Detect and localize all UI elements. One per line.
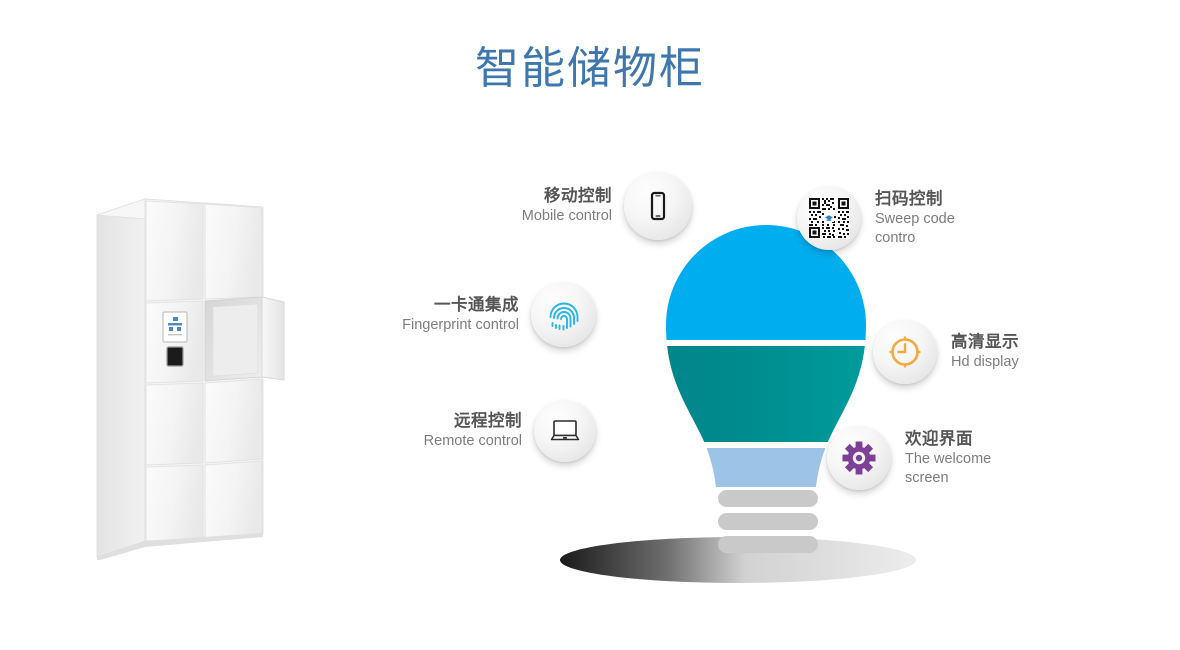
feature-label-en: Mobile control <box>522 207 612 226</box>
feature-label-cn: 欢迎界面 <box>905 429 1025 450</box>
bulb-base-ring <box>718 513 818 530</box>
feature-icon-badge[interactable] <box>873 320 937 384</box>
locker-open-door[interactable] <box>262 297 284 380</box>
infographic-canvas: 智能储物柜 <box>0 0 1180 650</box>
locker-door[interactable] <box>146 201 203 301</box>
locker-door[interactable] <box>205 461 262 539</box>
feature-sweep-code-control[interactable]: 扫码控制 Sweep code contro <box>797 186 1007 250</box>
feature-mobile-control[interactable]: 移动控制 Mobile control <box>430 172 692 240</box>
feature-label-en: Hd display <box>951 353 1019 372</box>
mobile-phone-icon <box>642 190 674 222</box>
qr-code-icon <box>808 197 850 239</box>
locker-touchscreen[interactable] <box>163 312 187 342</box>
feature-hd-display[interactable]: 高清显示 Hd display <box>873 320 1063 384</box>
bulb-base-ring <box>718 490 818 507</box>
locker-door[interactable] <box>146 465 203 541</box>
cabinet-side-panel <box>97 199 145 557</box>
feature-label-en: Remote control <box>424 432 522 451</box>
page-title: 智能储物柜 <box>0 32 1180 96</box>
locker-card-reader[interactable] <box>167 347 183 366</box>
locker-door[interactable] <box>146 383 203 465</box>
lightbulb-graphic <box>560 225 960 585</box>
feature-label-en: Fingerprint control <box>402 316 519 335</box>
feature-text: 一卡通集成 Fingerprint control <box>402 295 519 335</box>
feature-fingerprint-control[interactable]: 一卡通集成 Fingerprint control <box>398 282 596 347</box>
feature-text: 远程控制 Remote control <box>424 411 522 451</box>
feature-icon-badge[interactable] <box>827 426 891 490</box>
gear-icon <box>841 440 877 476</box>
bulb-base-ring <box>718 536 818 553</box>
feature-icon-badge[interactable] <box>534 400 596 462</box>
feature-label-cn: 移动控制 <box>522 186 612 207</box>
feature-text: 高清显示 Hd display <box>951 332 1019 372</box>
feature-label-en: The welcome screen <box>905 450 1025 487</box>
feature-label-cn: 远程控制 <box>424 411 522 432</box>
feature-label-cn: 高清显示 <box>951 332 1019 353</box>
locker-door[interactable] <box>205 204 262 299</box>
locker-door[interactable] <box>205 379 262 463</box>
locker-cavity-back <box>213 304 258 376</box>
fingerprint-icon <box>546 297 582 333</box>
clock-icon <box>887 334 923 370</box>
feature-welcome-screen[interactable]: 欢迎界面 The welcome screen <box>827 426 1027 490</box>
feature-icon-badge[interactable] <box>797 186 861 250</box>
feature-icon-badge[interactable] <box>531 282 596 347</box>
feature-label-cn: 一卡通集成 <box>402 295 519 316</box>
feature-text: 扫码控制 Sweep code contro <box>875 189 995 247</box>
feature-icon-badge[interactable] <box>624 172 692 240</box>
feature-label-cn: 扫码控制 <box>875 189 995 210</box>
feature-text: 欢迎界面 The welcome screen <box>905 429 1025 487</box>
laptop-icon <box>548 416 582 446</box>
feature-text: 移动控制 Mobile control <box>522 186 612 226</box>
screen-text-line <box>168 334 182 335</box>
feature-label-en: Sweep code contro <box>875 210 995 247</box>
smart-locker-cabinet <box>95 185 325 560</box>
feature-remote-control[interactable]: 远程控制 Remote control <box>372 400 596 462</box>
